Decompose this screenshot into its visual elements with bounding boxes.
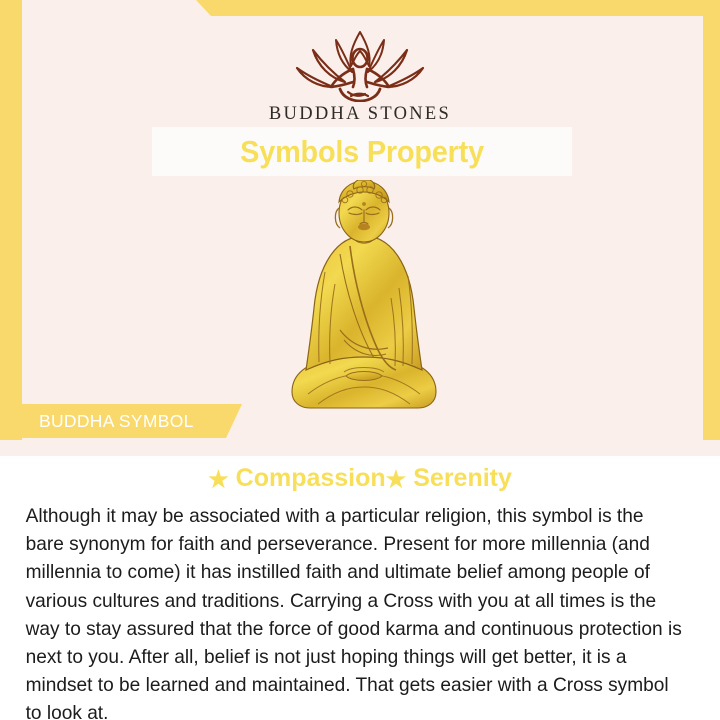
star-icon-2: ★ xyxy=(386,466,407,492)
infographic-page: BUDDHA STONES Symbols Property xyxy=(0,0,720,720)
hero-section: BUDDHA STONES Symbols Property xyxy=(0,0,720,456)
lotus-meditation-icon xyxy=(285,24,435,102)
star-icon-1: ★ xyxy=(208,466,229,492)
headline-word-compassion: Compassion xyxy=(236,464,386,492)
top-accent-bar xyxy=(0,0,720,16)
article-body: Although it may be associated with a par… xyxy=(0,493,709,720)
brand-logo: BUDDHA STONES xyxy=(0,24,720,125)
page-title-band: Symbols Property xyxy=(152,127,572,176)
article-headline: ★ Compassion★ Serenity xyxy=(0,456,720,493)
page-title: Symbols Property xyxy=(240,134,484,170)
article-section: ★ Compassion★ Serenity Although it may b… xyxy=(0,456,720,720)
status-badge: BUDDHA SYMBOL xyxy=(18,404,242,438)
headline-word-serenity: Serenity xyxy=(413,464,512,492)
buddha-statue-image xyxy=(278,180,450,415)
status-badge-label: BUDDHA SYMBOL xyxy=(39,411,194,432)
brand-name: BUDDHA STONES xyxy=(0,104,720,125)
